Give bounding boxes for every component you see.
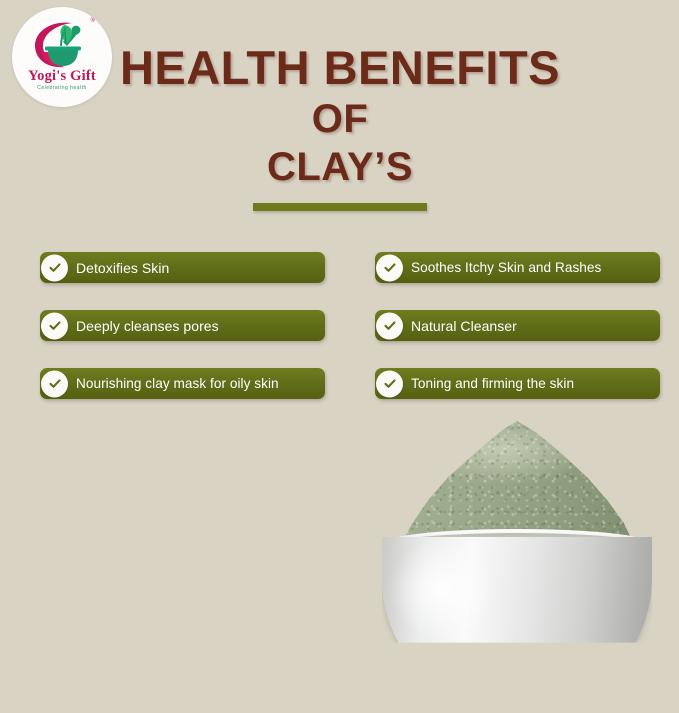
benefit-item-soothes-itchy-skin[interactable]: Soothes Itchy Skin and Rashes xyxy=(375,252,660,283)
title-line-3: CLAY’S xyxy=(110,147,570,187)
benefit-row: Nourishing clay mask for oily skin Tonin… xyxy=(40,368,660,399)
product-image-clay-bowl xyxy=(372,415,662,650)
registered-trademark-icon: ® xyxy=(91,18,95,24)
check-circle-icon xyxy=(41,312,68,339)
page-title: HEALTH BENEFITS OF CLAY’S xyxy=(110,44,570,187)
mortar-pestle-leaf-icon xyxy=(31,19,93,69)
benefit-item-natural-cleanser[interactable]: Natural Cleanser xyxy=(375,310,660,341)
brand-logo: ® Yogi's Gift Celebrating health xyxy=(12,7,112,107)
check-circle-icon xyxy=(41,370,68,397)
title-underline-bar xyxy=(253,203,427,211)
benefits-list: Detoxifies Skin Soothes Itchy Skin and R… xyxy=(40,252,660,426)
benefit-item-deeply-cleanses-pores[interactable]: Deeply cleanses pores xyxy=(40,310,325,341)
brand-tagline: Celebrating health xyxy=(12,86,112,91)
check-circle-icon xyxy=(41,254,68,281)
benefit-item-nourishing-clay-mask[interactable]: Nourishing clay mask for oily skin xyxy=(40,368,325,399)
benefit-label: Toning and firming the skin xyxy=(375,377,574,391)
brand-name: Yogi's Gift xyxy=(12,69,112,84)
benefit-row: Detoxifies Skin Soothes Itchy Skin and R… xyxy=(40,252,660,283)
check-circle-icon xyxy=(376,312,403,339)
benefit-item-detoxifies-skin[interactable]: Detoxifies Skin xyxy=(40,252,325,283)
benefit-label: Nourishing clay mask for oily skin xyxy=(40,377,279,391)
check-circle-icon xyxy=(376,254,403,281)
benefit-label: Soothes Itchy Skin and Rashes xyxy=(375,261,601,275)
title-line-1: HEALTH BENEFITS xyxy=(110,44,570,91)
poster-canvas: ® Yogi's Gift Celebrating health HEALTH … xyxy=(0,0,679,679)
check-circle-icon xyxy=(376,370,403,397)
benefit-item-toning-and-firming[interactable]: Toning and firming the skin xyxy=(375,368,660,399)
benefit-row: Deeply cleanses pores Natural Cleanser xyxy=(40,310,660,341)
title-line-2: OF xyxy=(110,99,570,139)
bowl-body xyxy=(382,537,652,713)
